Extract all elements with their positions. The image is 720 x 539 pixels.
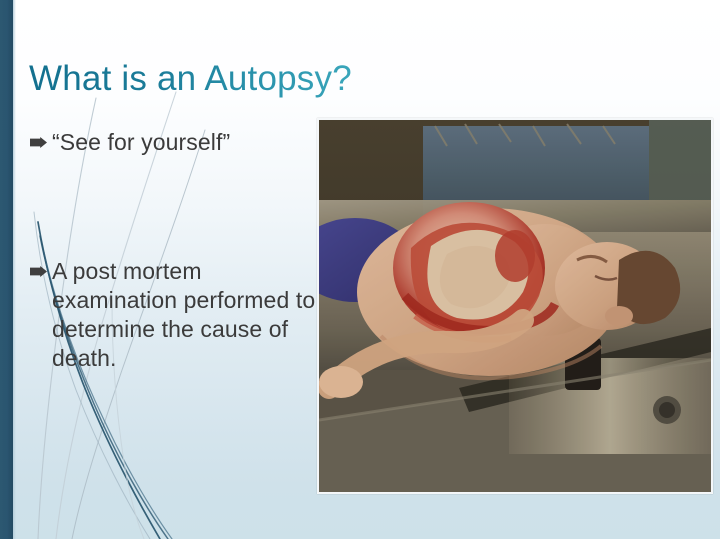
page-title: What is an Autopsy?	[29, 58, 352, 100]
pennant-bullet-icon	[30, 266, 47, 277]
left-accent-bar	[0, 0, 13, 539]
left-accent-bar-highlight	[13, 0, 16, 539]
list-item: A post mortem examination performed to d…	[30, 257, 330, 373]
autopsy-photograph-content	[319, 120, 711, 492]
autopsy-photograph	[317, 118, 713, 494]
presentation-slide: What is an Autopsy? “See for yourself” A…	[0, 0, 720, 539]
list-item-label: “See for yourself”	[52, 128, 230, 157]
autopsy-photograph-render	[319, 120, 711, 492]
slide-body: “See for yourself” A post mortem examina…	[30, 128, 330, 373]
list-item: “See for yourself”	[30, 128, 330, 157]
list-item-label: A post mortem examination performed to d…	[52, 257, 320, 373]
pennant-bullet-icon	[30, 137, 47, 148]
